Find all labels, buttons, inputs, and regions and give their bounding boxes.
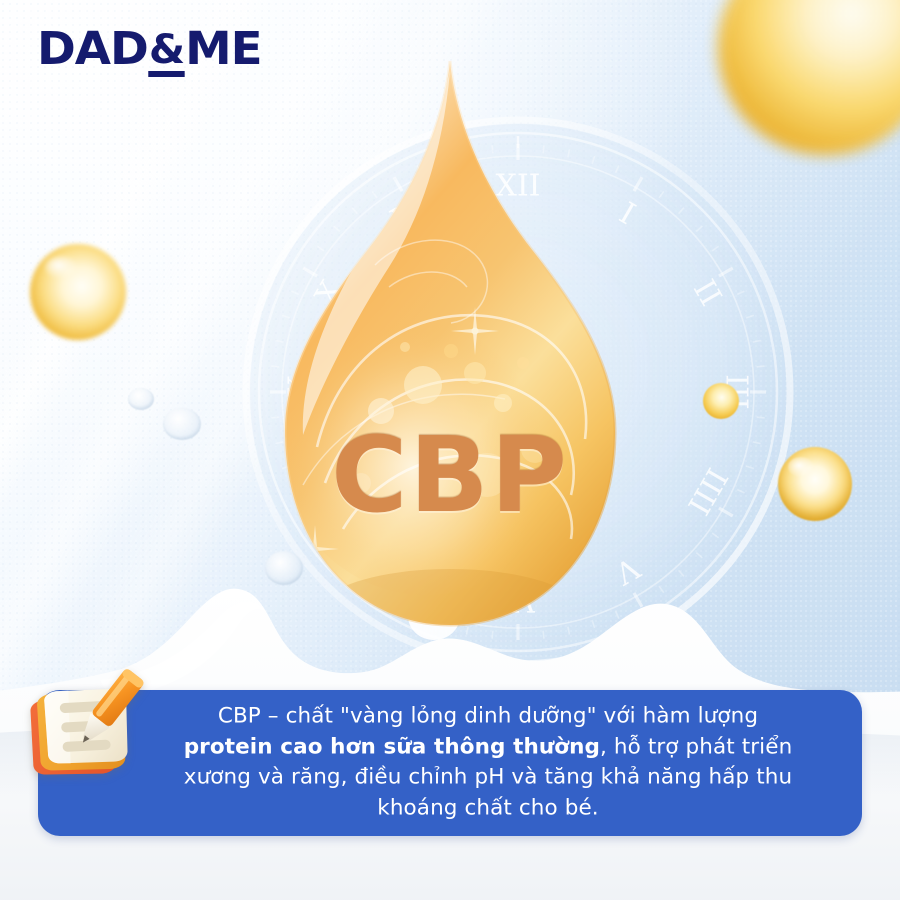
caption-line-3: xương và răng, điều chỉnh pH và tăng khả…	[184, 765, 792, 790]
caption-line-1: CBP – chất "vàng lỏng dinh dưỡng" với hà…	[218, 704, 758, 729]
notepad-pencil-icon	[18, 662, 154, 798]
caption-line-2-bold: protein cao hơn sữa thông thường	[184, 734, 600, 759]
cbp-label: CBP	[175, 423, 725, 527]
caption-text: CBP – chất "vàng lỏng dinh dưỡng" với hà…	[142, 702, 834, 825]
golden-droplet-graphic: CBP	[175, 55, 725, 645]
brand-logo: DAD&ME	[37, 26, 262, 78]
caption-banner: CBP – chất "vàng lỏng dinh dưỡng" với hà…	[38, 690, 862, 836]
milk-droplet-icon	[128, 388, 154, 410]
brand-logo-part1: DAD	[37, 22, 148, 75]
brand-logo-ampersand: &	[148, 32, 185, 77]
gold-bubble-left-icon	[30, 244, 126, 340]
brand-logo-part2: ME	[185, 22, 261, 75]
caption-line-2-rest: , hỗ trợ phát triển	[600, 734, 792, 759]
milk-droplet-icon	[265, 551, 303, 585]
promo-poster: XII I II III IIII V VI VII VIII IX X XI	[0, 0, 900, 900]
caption-line-4: khoáng chất cho bé.	[377, 796, 598, 821]
milk-droplet-icon	[163, 408, 201, 440]
